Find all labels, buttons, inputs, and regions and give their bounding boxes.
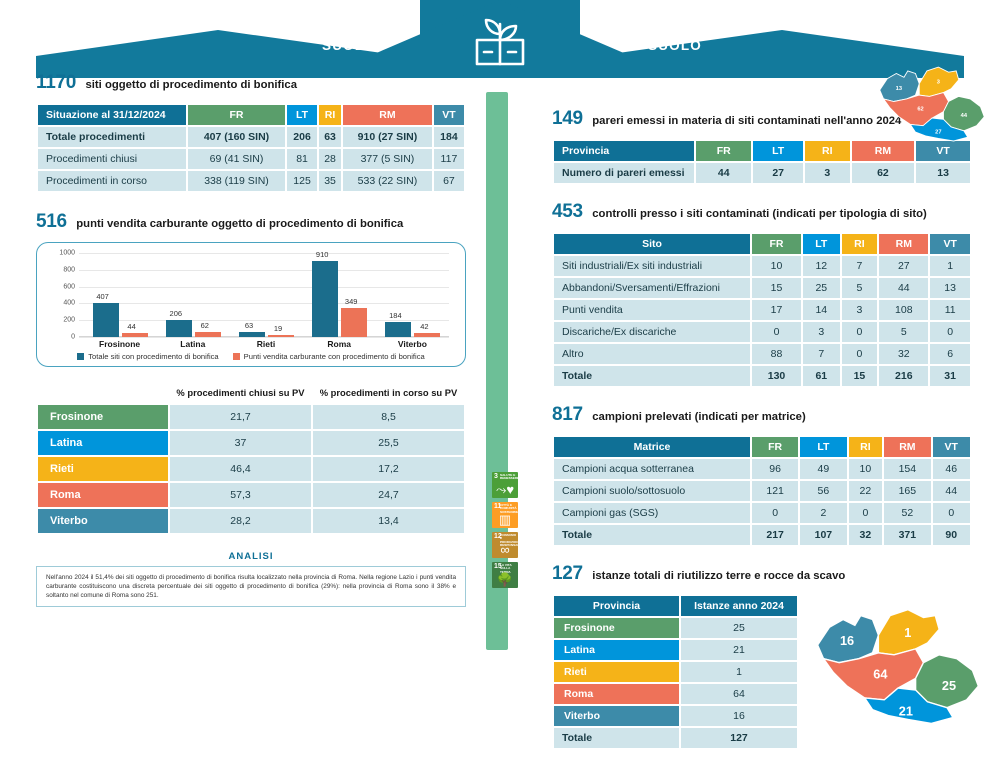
table-row: Viterbo 28,2 13,4 [38, 509, 464, 533]
map-region-ri: 1 [878, 610, 939, 655]
row-label-frosinone: Frosinone [38, 405, 168, 429]
cell-value: 17 [752, 300, 801, 320]
cell-value: 31 [930, 366, 970, 386]
cell-value: 16 [681, 706, 797, 726]
chart-plot-area: 1000800600400200040744Frosinone20662Lati… [79, 253, 449, 337]
row-label: Discariche/Ex discariche [554, 322, 750, 342]
cell-value: 6 [930, 344, 970, 364]
cell-value: 3 [805, 163, 850, 183]
table-row: Roma 64 [554, 684, 797, 704]
cell-value: 184 [434, 127, 464, 147]
chart-x-label: Latina [160, 339, 226, 349]
sdg-icon-11: 11 CITTÀ E COMUNITÀ SOSTENIBILI ▥ [492, 502, 518, 528]
row-label: Campioni gas (SGS) [554, 503, 750, 523]
chart-bar [93, 303, 119, 337]
chart-bar-group: 18442Viterbo [379, 253, 445, 337]
table-procedimenti: Situazione al 31/12/2024 FR LT RI RM VT … [36, 103, 466, 193]
table-row: Discariche/Ex discariche 0 3 0 5 0 [554, 322, 970, 342]
sdg-number: 3 [494, 473, 498, 480]
table-header-label: Sito [554, 234, 750, 254]
section-number: 817 [552, 404, 583, 425]
map-value-fr: 25 [942, 678, 956, 693]
row-label: Totale [554, 525, 750, 545]
column-header-vt: VT [930, 234, 970, 254]
table-row-totale: Totale 127 [554, 728, 797, 748]
cell-value: 1 [930, 256, 970, 276]
legend-swatch-icon [77, 353, 84, 360]
cell-value: 27 [753, 163, 802, 183]
cell-value: 21,7 [170, 405, 311, 429]
map-value-lt: 27 [935, 129, 941, 135]
cell-value: 81 [287, 149, 317, 169]
column-header-fr: FR [188, 105, 285, 125]
cell-value: 25 [803, 278, 840, 298]
chart-bar-group: 40744Frosinone [87, 253, 153, 337]
chart-bar-value: 44 [115, 322, 149, 331]
cell-value: 63 [319, 127, 341, 147]
chart-legend: Totale siti con procedimento di bonifica… [51, 352, 451, 361]
column-header-rm: RM [879, 234, 928, 254]
row-label: Abbandoni/Sversamenti/Effrazioni [554, 278, 750, 298]
map-value-vt: 16 [840, 633, 854, 648]
chart-bar-value: 910 [305, 250, 339, 259]
column-header-blank [38, 383, 168, 403]
table-row: Totale procedimenti 407 (160 SIN) 206 63… [38, 127, 464, 147]
column-header-vt: VT [933, 437, 971, 457]
table-campioni: Matrice FR LT RI RM VT Campioni acqua so… [552, 435, 972, 547]
cell-value: 127 [681, 728, 797, 748]
table-header-label: Situazione al 31/12/2024 [38, 105, 186, 125]
table-header-row: % procedimenti chiusi su PV % procedimen… [38, 383, 464, 403]
table-row: Latina 21 [554, 640, 797, 660]
cell-value: 533 (22 SIN) [343, 171, 432, 191]
header-banner: SUOLO SUOLO [0, 0, 1000, 78]
chart-y-tick: 800 [63, 266, 75, 273]
chart-y-tick: 0 [71, 334, 75, 341]
header-banner-shape [0, 0, 1000, 78]
row-label-latina: Latina [554, 640, 679, 660]
cell-value: 44 [696, 163, 751, 183]
left-column: 1170 siti oggetto di procedimento di bon… [36, 72, 466, 607]
cell-value: 15 [752, 278, 801, 298]
cell-value: 12 [803, 256, 840, 276]
cell-value: 407 (160 SIN) [188, 127, 285, 147]
cell-value: 206 [287, 127, 317, 147]
cell-value: 32 [849, 525, 883, 545]
column-header-lt: LT [287, 105, 317, 125]
section-text: controlli presso i siti contaminati (ind… [592, 208, 927, 220]
heartbeat-icon: ⤳♥ [492, 483, 518, 497]
cell-value: 28,2 [170, 509, 311, 533]
infinity-icon: ∞ [492, 543, 518, 557]
table-header-row: Sito FR LT RI RM VT [554, 234, 970, 254]
row-label: Numero di pareri emessi [554, 163, 694, 183]
cell-value: 0 [933, 503, 971, 523]
cell-value: 108 [879, 300, 928, 320]
table-row: Punti vendita 17 14 3 108 11 [554, 300, 970, 320]
chart-bar-group: 910349Roma [306, 253, 372, 337]
cell-value: 377 (5 SIN) [343, 149, 432, 169]
section-number: 1170 [36, 72, 76, 93]
cell-value: 46 [933, 459, 971, 479]
cell-value: 27 [879, 256, 928, 276]
cell-value: 96 [752, 459, 798, 479]
banner-label-right: SUOLO [648, 38, 702, 53]
section-number: 149 [552, 108, 583, 129]
section-heading-127: 127 istanze totali di riutilizzo terre e… [552, 563, 972, 585]
cell-value: 10 [849, 459, 883, 479]
table-header-row: Provincia Istanze anno 2024 [554, 596, 797, 616]
cell-value: 21 [681, 640, 797, 660]
row-label: Totale [554, 366, 750, 386]
cell-value: 46,4 [170, 457, 311, 481]
column-header-chiusi: % procedimenti chiusi su PV [170, 383, 311, 403]
row-label-rieti: Rieti [38, 457, 168, 481]
table-row: Roma 57,3 24,7 [38, 483, 464, 507]
section-number: 127 [552, 563, 583, 584]
chart-y-tick: 600 [63, 283, 75, 290]
table-row: Frosinone 21,7 8,5 [38, 405, 464, 429]
chart-bar-value: 407 [86, 292, 120, 301]
column-header-ri: RI [319, 105, 341, 125]
column-header-ri: RI [849, 437, 883, 457]
cell-value: 130 [752, 366, 801, 386]
cell-value: 25 [681, 618, 797, 638]
cell-value: 3 [803, 322, 840, 342]
cell-value: 61 [803, 366, 840, 386]
column-header-ri: RI [842, 234, 878, 254]
table-row: Campioni acqua sotterranea 96 49 10 154 … [554, 459, 970, 479]
column-header-incorso: % procedimenti in corso su PV [313, 383, 464, 403]
table-row: Viterbo 16 [554, 706, 797, 726]
cell-value: 338 (119 SIN) [188, 171, 285, 191]
column-header-lt: LT [753, 141, 802, 161]
cell-value: 2 [800, 503, 846, 523]
cell-value: 24,7 [313, 483, 464, 507]
map-value-lt: 21 [899, 704, 913, 719]
cell-value: 35 [319, 171, 341, 191]
cell-value: 125 [287, 171, 317, 191]
table-row: Campioni gas (SGS) 0 2 0 52 0 [554, 503, 970, 523]
cell-value: 13 [916, 163, 970, 183]
chart-y-tick: 200 [63, 317, 75, 324]
cell-value: 165 [884, 481, 930, 501]
city-buildings-icon: ▥ [492, 513, 518, 527]
row-label: Totale procedimenti [38, 127, 186, 147]
section-text: siti oggetto di procedimento di bonifica [85, 79, 297, 91]
chart-bar-value: 206 [159, 309, 193, 318]
row-label-frosinone: Frosinone [554, 618, 679, 638]
cell-value: 216 [879, 366, 928, 386]
analisi-text: Nell'anno 2024 il 51,4% dei siti oggetto… [36, 566, 466, 607]
sdg-title: SALUTE E BENESSERE [500, 474, 517, 481]
table-percentuali: % procedimenti chiusi su PV % procedimen… [36, 381, 466, 535]
section-text: punti vendita carburante oggetto di proc… [76, 218, 403, 230]
section-number: 453 [552, 201, 583, 222]
row-label-rieti: Rieti [554, 662, 679, 682]
cell-value: 371 [884, 525, 930, 545]
cell-value: 7 [842, 256, 878, 276]
legend-label: Totale siti con procedimento di bonifica [88, 352, 218, 361]
table-row-totale: Totale 130 61 15 216 31 [554, 366, 970, 386]
table-row: Abbandoni/Sversamenti/Effrazioni 15 25 5… [554, 278, 970, 298]
map-value-vt: 13 [896, 86, 902, 92]
chart-bar-group: 20662Latina [160, 253, 226, 337]
cell-value: 32 [879, 344, 928, 364]
section-number: 516 [36, 211, 67, 232]
cell-value: 28 [319, 149, 341, 169]
cell-value: 44 [879, 278, 928, 298]
row-label: Procedimenti in corso [38, 171, 186, 191]
chart-bar-value: 184 [378, 311, 412, 320]
cell-value: 107 [800, 525, 846, 545]
row-label: Campioni acqua sotterranea [554, 459, 750, 479]
chart-x-label: Rieti [233, 339, 299, 349]
row-label-roma: Roma [554, 684, 679, 704]
column-header-fr: FR [752, 234, 801, 254]
chart-x-label: Roma [306, 339, 372, 349]
column-header-lt: LT [800, 437, 846, 457]
row-label: Punti vendita [554, 300, 750, 320]
column-header-ri: RI [805, 141, 850, 161]
cell-value: 22 [849, 481, 883, 501]
chart-bar-value: 62 [188, 321, 222, 330]
cell-value: 0 [930, 322, 970, 342]
table-row: Siti industriali/Ex siti industriali 10 … [554, 256, 970, 276]
chart-y-tick: 400 [63, 300, 75, 307]
cell-value: 13,4 [313, 509, 464, 533]
cell-value: 0 [842, 344, 878, 364]
column-header-istanze: Istanze anno 2024 [681, 596, 797, 616]
chart-x-label: Viterbo [379, 339, 445, 349]
map-value-rm: 64 [873, 666, 888, 681]
map-value-fr: 44 [961, 113, 968, 119]
cell-value: 154 [884, 459, 930, 479]
cell-value: 13 [930, 278, 970, 298]
bar-chart: 1000800600400200040744Frosinone20662Lati… [36, 242, 466, 367]
cell-value: 0 [752, 322, 801, 342]
tree-icon: 🌳 [492, 573, 518, 587]
table-header-row: Matrice FR LT RI RM VT [554, 437, 970, 457]
chart-bar [195, 332, 221, 337]
section-heading-516: 516 punti vendita carburante oggetto di … [36, 211, 466, 233]
table-row: Rieti 46,4 17,2 [38, 457, 464, 481]
column-header-vt: VT [434, 105, 464, 125]
chart-gridline [79, 337, 449, 338]
analisi-title: ANALISI [36, 551, 466, 562]
cell-value: 0 [849, 503, 883, 523]
legend-item-punti-vendita: Punti vendita carburante con procediment… [233, 352, 425, 361]
chart-bar-value: 349 [334, 297, 368, 306]
spine-title: Scheda 4: controlli suolo – 2024 [3, 122, 27, 448]
chart-bar-value: 19 [261, 324, 295, 333]
cell-value: 1 [681, 662, 797, 682]
legend-swatch-icon [233, 353, 240, 360]
section-heading-453: 453 controlli presso i siti contaminati … [552, 201, 972, 223]
cell-value: 217 [752, 525, 798, 545]
chart-bar-value: 42 [407, 322, 441, 331]
cell-value: 17,2 [313, 457, 464, 481]
map-lazio-istanze: 16 1 64 25 21 [800, 598, 996, 738]
cell-value: 90 [933, 525, 971, 545]
section-text: campioni prelevati (indicati per matrice… [592, 411, 805, 423]
cell-value: 56 [800, 481, 846, 501]
map-value-rm: 62 [917, 106, 923, 112]
table-row: Frosinone 25 [554, 618, 797, 638]
column-header-provincia: Provincia [554, 596, 679, 616]
chart-y-tick: 1000 [59, 250, 75, 257]
section-text: istanze totali di riutilizzo terre e roc… [592, 570, 845, 582]
legend-label: Punti vendita carburante con procediment… [244, 352, 425, 361]
table-row: Procedimenti in corso 338 (119 SIN) 125 … [38, 171, 464, 191]
row-label: Totale [554, 728, 679, 748]
chart-bar [414, 333, 440, 337]
chart-bar-group: 6319Rieti [233, 253, 299, 337]
table-row: Altro 88 7 0 32 6 [554, 344, 970, 364]
cell-value: 0 [842, 322, 878, 342]
cell-value: 57,3 [170, 483, 311, 507]
table-header-row: Situazione al 31/12/2024 FR LT RI RM VT [38, 105, 464, 125]
table-header-label: Matrice [554, 437, 750, 457]
chart-bar [341, 308, 367, 337]
row-label-latina: Latina [38, 431, 168, 455]
section-heading-817: 817 campioni prelevati (indicati per mat… [552, 404, 972, 426]
chart-bar [122, 333, 148, 337]
section-text: pareri emessi in materia di siti contami… [592, 115, 901, 127]
cell-value: 0 [752, 503, 798, 523]
table-row: Procedimenti chiusi 69 (41 SIN) 81 28 37… [38, 149, 464, 169]
table-header-label: Provincia [554, 141, 694, 161]
table-controlli: Sito FR LT RI RM VT Siti industriali/Ex … [552, 232, 972, 388]
cell-value: 5 [879, 322, 928, 342]
column-header-lt: LT [803, 234, 840, 254]
table-row: Latina 37 25,5 [38, 431, 464, 455]
row-label: Siti industriali/Ex siti industriali [554, 256, 750, 276]
cell-value: 8,5 [313, 405, 464, 429]
cell-value: 15 [842, 366, 878, 386]
row-label-viterbo: Viterbo [38, 509, 168, 533]
banner-label-left: SUOLO [322, 38, 376, 53]
cell-value: 67 [434, 171, 464, 191]
sdg-icon-12: 12 CONSUMO E PRODUZIONE RESPONSABILI ∞ [492, 532, 518, 558]
map-lazio-pareri: 13 3 62 44 27 [868, 62, 996, 148]
column-header-fr: FR [696, 141, 751, 161]
column-header-rm: RM [884, 437, 930, 457]
sdg-icon-15: 15 LA VITA SULLA TERRA 🌳 [492, 562, 518, 588]
row-label-viterbo: Viterbo [554, 706, 679, 726]
cell-value: 52 [884, 503, 930, 523]
row-label: Procedimenti chiusi [38, 149, 186, 169]
table-row-totale: Totale 217 107 32 371 90 [554, 525, 970, 545]
map-value-ri: 3 [937, 80, 940, 86]
table-row: Campioni suolo/sottosuolo 121 56 22 165 … [554, 481, 970, 501]
table-row: Rieti 1 [554, 662, 797, 682]
chart-x-label: Frosinone [87, 339, 153, 349]
chart-bar [268, 335, 294, 337]
row-label: Altro [554, 344, 750, 364]
cell-value: 88 [752, 344, 801, 364]
cell-value: 10 [752, 256, 801, 276]
cell-value: 44 [933, 481, 971, 501]
column-header-fr: FR [752, 437, 798, 457]
cell-value: 11 [930, 300, 970, 320]
section-heading-1170: 1170 siti oggetto di procedimento di bon… [36, 72, 466, 94]
cell-value: 64 [681, 684, 797, 704]
cell-value: 3 [842, 300, 878, 320]
map-region-ri: 3 [919, 67, 958, 96]
cell-value: 49 [800, 459, 846, 479]
cell-value: 5 [842, 278, 878, 298]
legend-item-totale-siti: Totale siti con procedimento di bonifica [77, 352, 218, 361]
cell-value: 14 [803, 300, 840, 320]
map-value-ri: 1 [904, 625, 911, 640]
column-header-rm: RM [343, 105, 432, 125]
cell-value: 69 (41 SIN) [188, 149, 285, 169]
cell-value: 25,5 [313, 431, 464, 455]
cell-value: 121 [752, 481, 798, 501]
table-row: Numero di pareri emessi 44 27 3 62 13 [554, 163, 970, 183]
cell-value: 62 [852, 163, 915, 183]
table-istanze: Provincia Istanze anno 2024 Frosinone 25… [552, 594, 799, 750]
sdg-icon-3: 3 SALUTE E BENESSERE ⤳♥ [492, 472, 518, 498]
cell-value: 7 [803, 344, 840, 364]
cell-value: 910 (27 SIN) [343, 127, 432, 147]
cell-value: 37 [170, 431, 311, 455]
cell-value: 117 [434, 149, 464, 169]
row-label-roma: Roma [38, 483, 168, 507]
row-label: Campioni suolo/sottosuolo [554, 481, 750, 501]
